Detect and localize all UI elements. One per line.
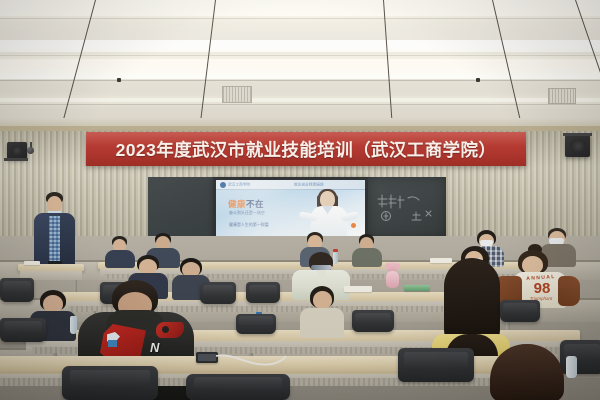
slide-line-2: 奋斗到头还是一场空 xyxy=(229,210,265,216)
slide-header-right-text: 就业创业师资培训 xyxy=(294,182,323,188)
slide-title-rest: 不在 xyxy=(246,199,264,209)
whiteboard-with-writing xyxy=(368,177,446,239)
student-foreground-right xyxy=(484,344,574,400)
wall-speaker-left xyxy=(7,142,27,159)
slide-presenter-figure xyxy=(307,189,351,236)
chair xyxy=(246,282,280,303)
classroom-photo: 2023年度武汉市就业技能培训（武汉工商学院） 武汉工商学院 就业创业师资培训 … xyxy=(0,0,600,400)
front-board-left xyxy=(148,177,214,239)
projection-screen-frame: 武汉工商学院 就业创业师资培训 健康不在 奋斗到头还是一场空 健康是人生的第一财… xyxy=(213,177,368,240)
ceiling-light-strip xyxy=(0,98,600,102)
board-handwriting xyxy=(374,191,440,225)
chair xyxy=(0,318,46,342)
ceiling xyxy=(0,0,600,128)
slide-header-left-text: 武汉工商学院 xyxy=(228,182,250,188)
projection-screen: 武汉工商学院 就业创业师资培训 健康不在 奋斗到头还是一场空 健康是人生的第一财… xyxy=(216,180,365,236)
chair-row3-right xyxy=(398,348,474,382)
event-banner: 2023年度武汉市就业技能培训（武汉工商学院） xyxy=(86,132,526,166)
ceiling-light-strip xyxy=(0,59,600,68)
chair-foreground-mid xyxy=(186,374,290,400)
banner-text: 2023年度武汉市就业技能培训（武汉工商学院） xyxy=(86,132,526,166)
green-book xyxy=(404,285,430,291)
slide-accent-dot xyxy=(351,223,356,228)
ceiling-vent xyxy=(548,88,576,104)
pink-plush-toy xyxy=(384,262,400,290)
paper-sheet xyxy=(344,286,372,292)
student-row3-mid xyxy=(300,286,344,334)
chair xyxy=(0,278,34,302)
ceiling-light-strip xyxy=(0,0,600,12)
hair xyxy=(490,344,564,400)
chair xyxy=(200,282,236,304)
hoodie-red-splat xyxy=(156,322,184,338)
chair xyxy=(236,314,276,334)
water-bottle xyxy=(70,316,77,334)
charging-cable xyxy=(216,350,286,374)
chair xyxy=(352,310,394,332)
varsity-jacket-number: 98 xyxy=(522,281,562,296)
hoodie-text-graphic: N xyxy=(150,340,158,355)
wall-trim xyxy=(0,126,600,131)
chair xyxy=(500,300,540,322)
front-desk xyxy=(18,264,84,271)
ceiling-vent xyxy=(222,86,252,103)
student-far-right xyxy=(352,234,382,266)
slide-title-highlight: 健康 xyxy=(228,199,246,209)
varsity-student: ANNUAL 98 Triumphant xyxy=(506,250,574,306)
bottle-foreground xyxy=(566,356,577,378)
slide-line-3: 健康是人生的第一财富 xyxy=(229,222,269,228)
paper-sheet xyxy=(24,261,40,265)
security-camera xyxy=(27,147,34,154)
chair-foreground-left xyxy=(62,366,158,400)
slide-logo-icon xyxy=(220,182,226,188)
wall-speaker-right xyxy=(565,135,590,157)
slide-title: 健康不在 xyxy=(228,198,264,210)
